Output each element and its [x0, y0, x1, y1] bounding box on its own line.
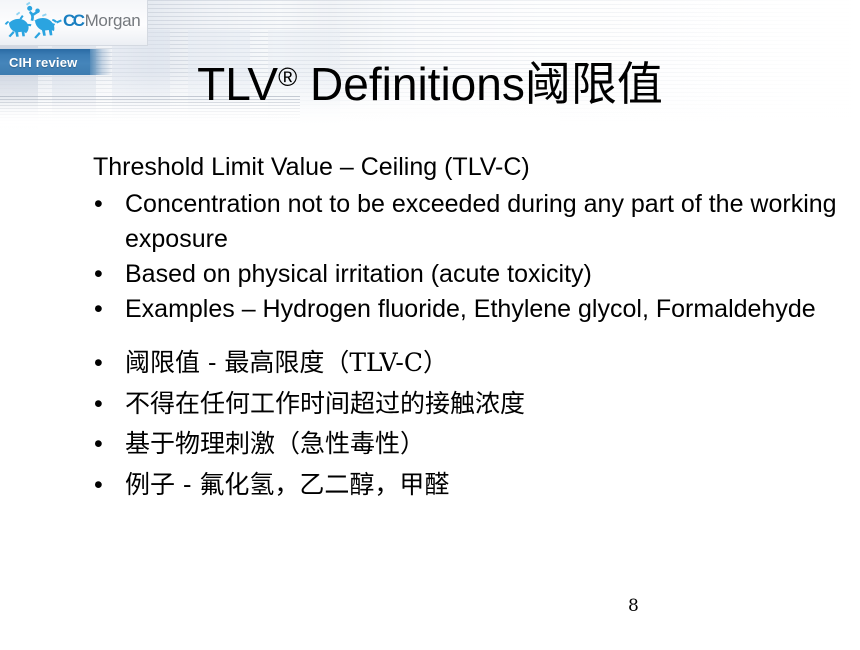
slide-title: TLV® Definitions阈限值: [0, 60, 860, 108]
list-item: • 不得在任何工作时间超过的接触浓度: [0, 384, 860, 425]
slide-title-rest-cjk: 阈限值: [525, 57, 663, 111]
bullet-dot-icon: •: [94, 343, 103, 384]
list-item-text: Examples – Hydrogen fluoride, Ethylene g…: [125, 295, 816, 323]
slide-title-main: TLV: [197, 58, 278, 110]
list-item-text: Concentration not to be exceeded during …: [125, 190, 837, 253]
list-item-text: 例子 - 氟化氢，乙二醇，甲醛: [125, 470, 449, 499]
list-item: • 基于物理刺激（急性毒性）: [0, 424, 860, 465]
bullet-dot-icon: •: [94, 292, 103, 327]
bullet-dot-icon: •: [94, 424, 103, 465]
list-item: • Based on physical irritation (acute to…: [0, 257, 860, 292]
section-spacer: [0, 327, 860, 339]
list-item-text: 阈限值 - 最高限度（TLV-C）: [125, 348, 448, 377]
bullet-list-english: • Concentration not to be exceeded durin…: [0, 187, 860, 327]
lead-line: Threshold Limit Value – Ceiling (TLV-C): [93, 152, 860, 183]
bullet-dot-icon: •: [94, 384, 103, 425]
bullet-dot-icon: •: [94, 187, 103, 222]
list-item-text: 基于物理刺激（急性毒性）: [125, 429, 425, 458]
list-item: • 例子 - 氟化氢，乙二醇，甲醛: [0, 465, 860, 506]
logo-wordmark-morgan: Morgan: [85, 11, 141, 30]
slide-body: Threshold Limit Value – Ceiling (TLV-C) …: [0, 152, 860, 505]
list-item: • Examples – Hydrogen fluoride, Ethylene…: [0, 292, 860, 327]
bullet-dot-icon: •: [94, 257, 103, 292]
slide-title-rest-en: Definitions: [297, 58, 525, 110]
list-item: • 阈限值 - 最高限度（TLV-C）: [0, 343, 860, 384]
page-number: 8: [628, 596, 639, 616]
list-item-text: 不得在任何工作时间超过的接触浓度: [125, 389, 525, 418]
bullet-list-chinese: • 阈限值 - 最高限度（TLV-C） • 不得在任何工作时间超过的接触浓度 •…: [0, 343, 860, 505]
logo-wordmark: CCMorgan: [63, 11, 140, 31]
slide: CCMorgan CIH review TLV® Definitions阈限值 …: [0, 0, 860, 650]
list-item-text: Based on physical irritation (acute toxi…: [125, 260, 592, 288]
logo-wordmark-cc: CC: [63, 11, 83, 30]
registered-trademark-icon: ®: [278, 62, 297, 92]
ccmorgan-rider-lions-logo-icon: [4, 1, 64, 43]
logo-plate: CCMorgan: [0, 0, 148, 46]
bullet-dot-icon: •: [94, 465, 103, 506]
list-item: • Concentration not to be exceeded durin…: [0, 187, 860, 257]
